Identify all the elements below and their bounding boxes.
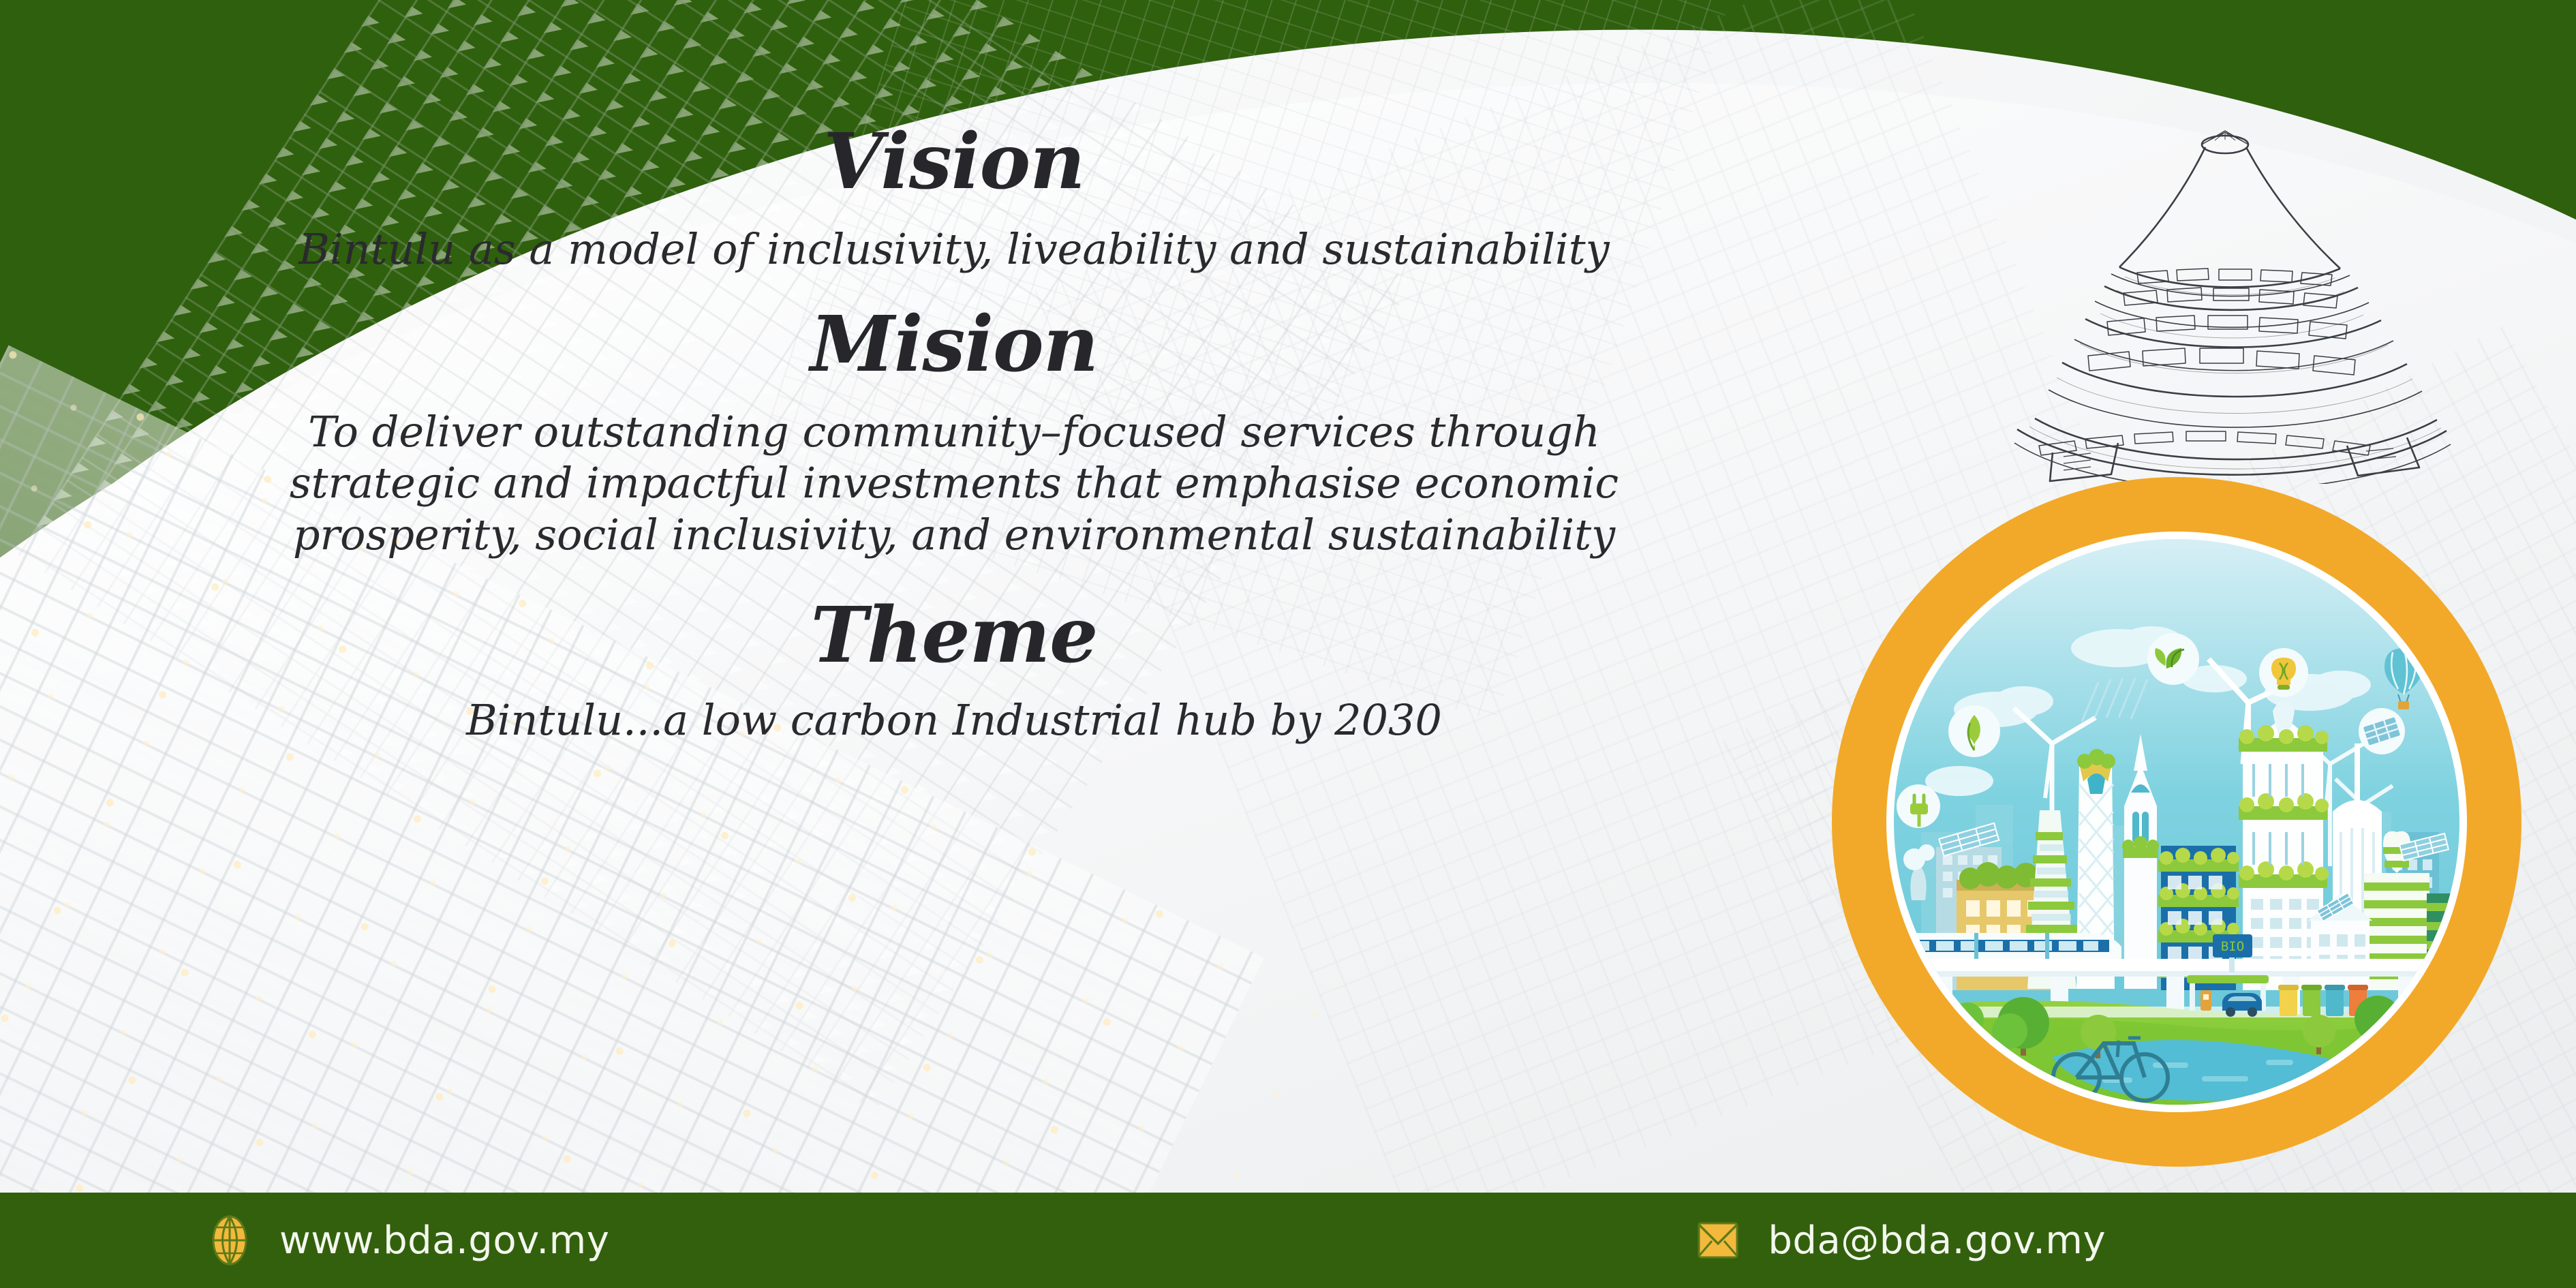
envelope-icon: [1693, 1215, 1743, 1266]
eco-city-circle-inner: BIO: [1886, 532, 2467, 1112]
mission-line-3: prosperity, social inclusivity, and envi…: [293, 509, 1615, 561]
eco-city-circle-frame: BIO: [1832, 477, 2521, 1167]
vision-heading: Vision: [823, 124, 1084, 200]
eco-city-illustration: BIO: [1894, 539, 2459, 1105]
website-label: www.bda.gov.my: [279, 1218, 609, 1263]
svg-text:BIO: BIO: [2221, 939, 2244, 954]
footer-email[interactable]: bda@bda.gov.my: [1693, 1215, 2106, 1266]
footer-bar: www.bda.gov.my bda@bda.gov.my: [0, 1193, 2576, 1288]
email-label: bda@bda.gov.my: [1768, 1218, 2106, 1263]
mission-line-2: strategic and impactful investments that…: [290, 457, 1619, 509]
text-content: Vision Bintulu as a model of inclusivity…: [0, 0, 1908, 1186]
vision-line-1: Bintulu as a model of inclusivity, livea…: [298, 224, 1609, 275]
conical-building-line-art: [1949, 89, 2562, 484]
bda-vision-mission-banner: BIO: [0, 0, 2576, 1288]
footer-website[interactable]: www.bda.gov.my: [204, 1215, 609, 1266]
mission-line-1: To deliver outstanding community–focused…: [308, 406, 1600, 458]
theme-heading: Theme: [811, 598, 1098, 674]
mission-heading: Mision: [810, 307, 1098, 383]
theme-line-1: Bintulu...a low carbon Industrial hub by…: [466, 694, 1442, 746]
globe-icon: [204, 1215, 255, 1266]
